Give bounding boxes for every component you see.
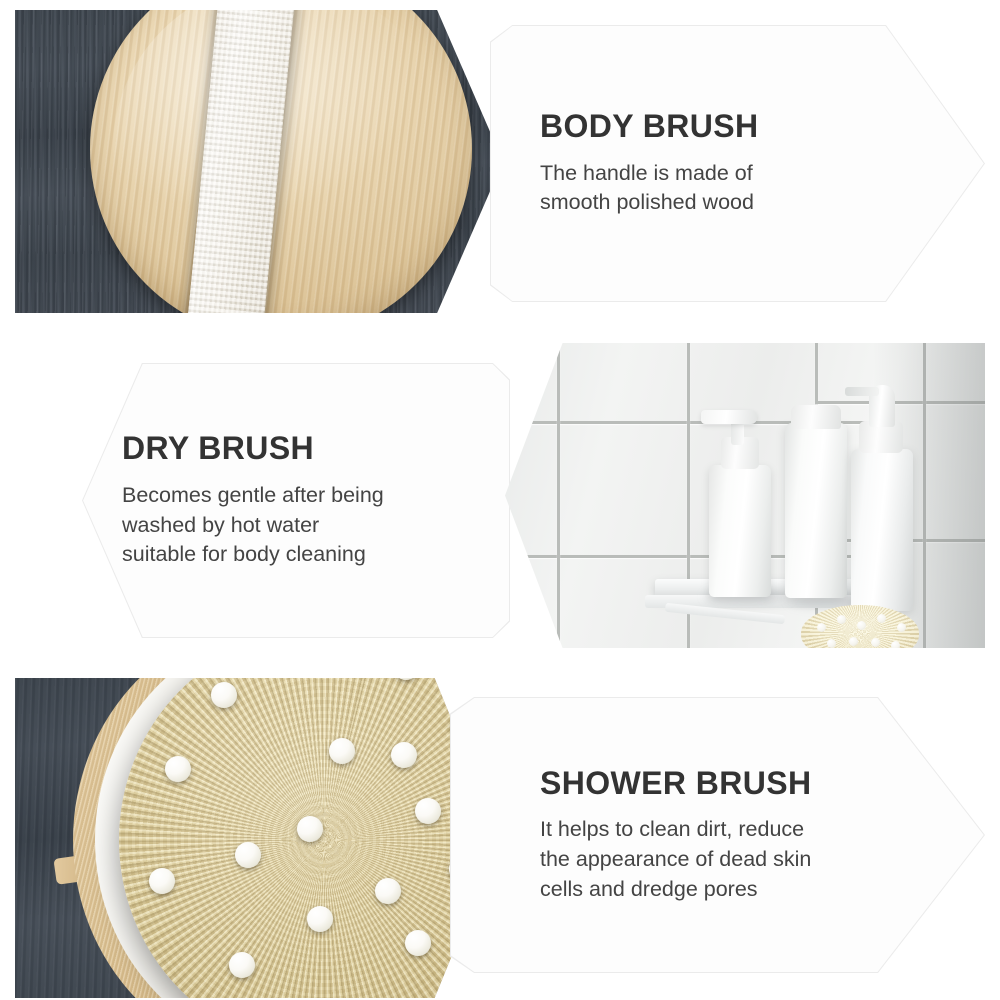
massage-nub [827,639,836,648]
dry-brush-description: Becomes gentle after being washed by hot… [122,481,522,570]
shower-brush-text-content: SHOWER BRUSH It helps to clean dirt, red… [540,697,970,973]
shower-brush-heading: SHOWER BRUSH [540,766,970,802]
tile-grout-line [557,343,560,648]
dry-brush-heading: DRY BRUSH [122,431,522,467]
body-brush-description-line-1: The handle is made of [540,159,960,189]
body-brush-heading: BODY BRUSH [540,109,960,145]
feature-section-dry-brush: DRY BRUSH Becomes gentle after being was… [0,330,1000,660]
massage-nub [393,678,419,680]
massage-nub [871,638,880,647]
massage-nub [891,641,900,648]
pump-nozzle [701,410,757,424]
dry-brush-description-line-3: suitable for body cleaning [122,540,522,570]
dry-brush-photo-scene [505,343,985,648]
massage-nub [817,623,826,632]
feature-section-shower-brush: SHOWER BRUSH It helps to clean dirt, red… [0,660,1000,1000]
shower-brush-description-line-1: It helps to clean dirt, reduce [540,815,970,845]
body-brush-photo [15,10,503,313]
shampoo-bottle [851,449,913,611]
massage-nub [235,842,261,868]
feature-section-body-brush: BODY BRUSH The handle is made of smooth … [0,0,1000,330]
massage-nub [307,906,333,932]
body-brush-description-line-2: smooth polished wood [540,188,960,218]
brush-bristles [119,678,500,998]
body-brush-description: The handle is made of smooth polished wo… [540,159,960,218]
soap-dispenser-bottle [709,465,771,597]
infographic-board: BODY BRUSH The handle is made of smooth … [0,0,1000,1000]
shower-brush-photo-scene [15,678,500,998]
massage-nub [897,623,906,632]
dry-brush-photo [505,343,985,648]
massage-nub [229,952,255,978]
dry-brush-text-content: DRY BRUSH Becomes gentle after being was… [122,363,522,638]
body-brush-text-content: BODY BRUSH The handle is made of smooth … [540,25,960,302]
shower-brush-description: It helps to clean dirt, reduce the appea… [540,815,970,904]
dry-brush-description-line-1: Becomes gentle after being [122,481,522,511]
massage-nub [857,621,866,630]
massage-nub [375,878,401,904]
massage-nub [405,930,431,956]
pump-spout [845,387,879,396]
massage-nub [837,615,846,624]
shower-brush-description-line-3: cells and dredge pores [540,875,970,905]
massage-nub [877,614,886,623]
massage-nub [391,742,417,768]
massage-nub [211,682,237,708]
bottle-cap [791,405,841,429]
dry-brush-description-line-2: washed by hot water [122,511,522,541]
massage-nub [165,756,191,782]
massage-nub [297,816,323,842]
lotion-bottle [785,423,847,598]
massage-nub [849,637,858,646]
body-brush-photo-scene [15,10,503,313]
massage-nub [329,738,355,764]
massage-nub [415,798,441,824]
massage-nub [149,868,175,894]
shower-brush-photo [15,678,500,998]
shower-brush-description-line-2: the appearance of dead skin [540,845,970,875]
